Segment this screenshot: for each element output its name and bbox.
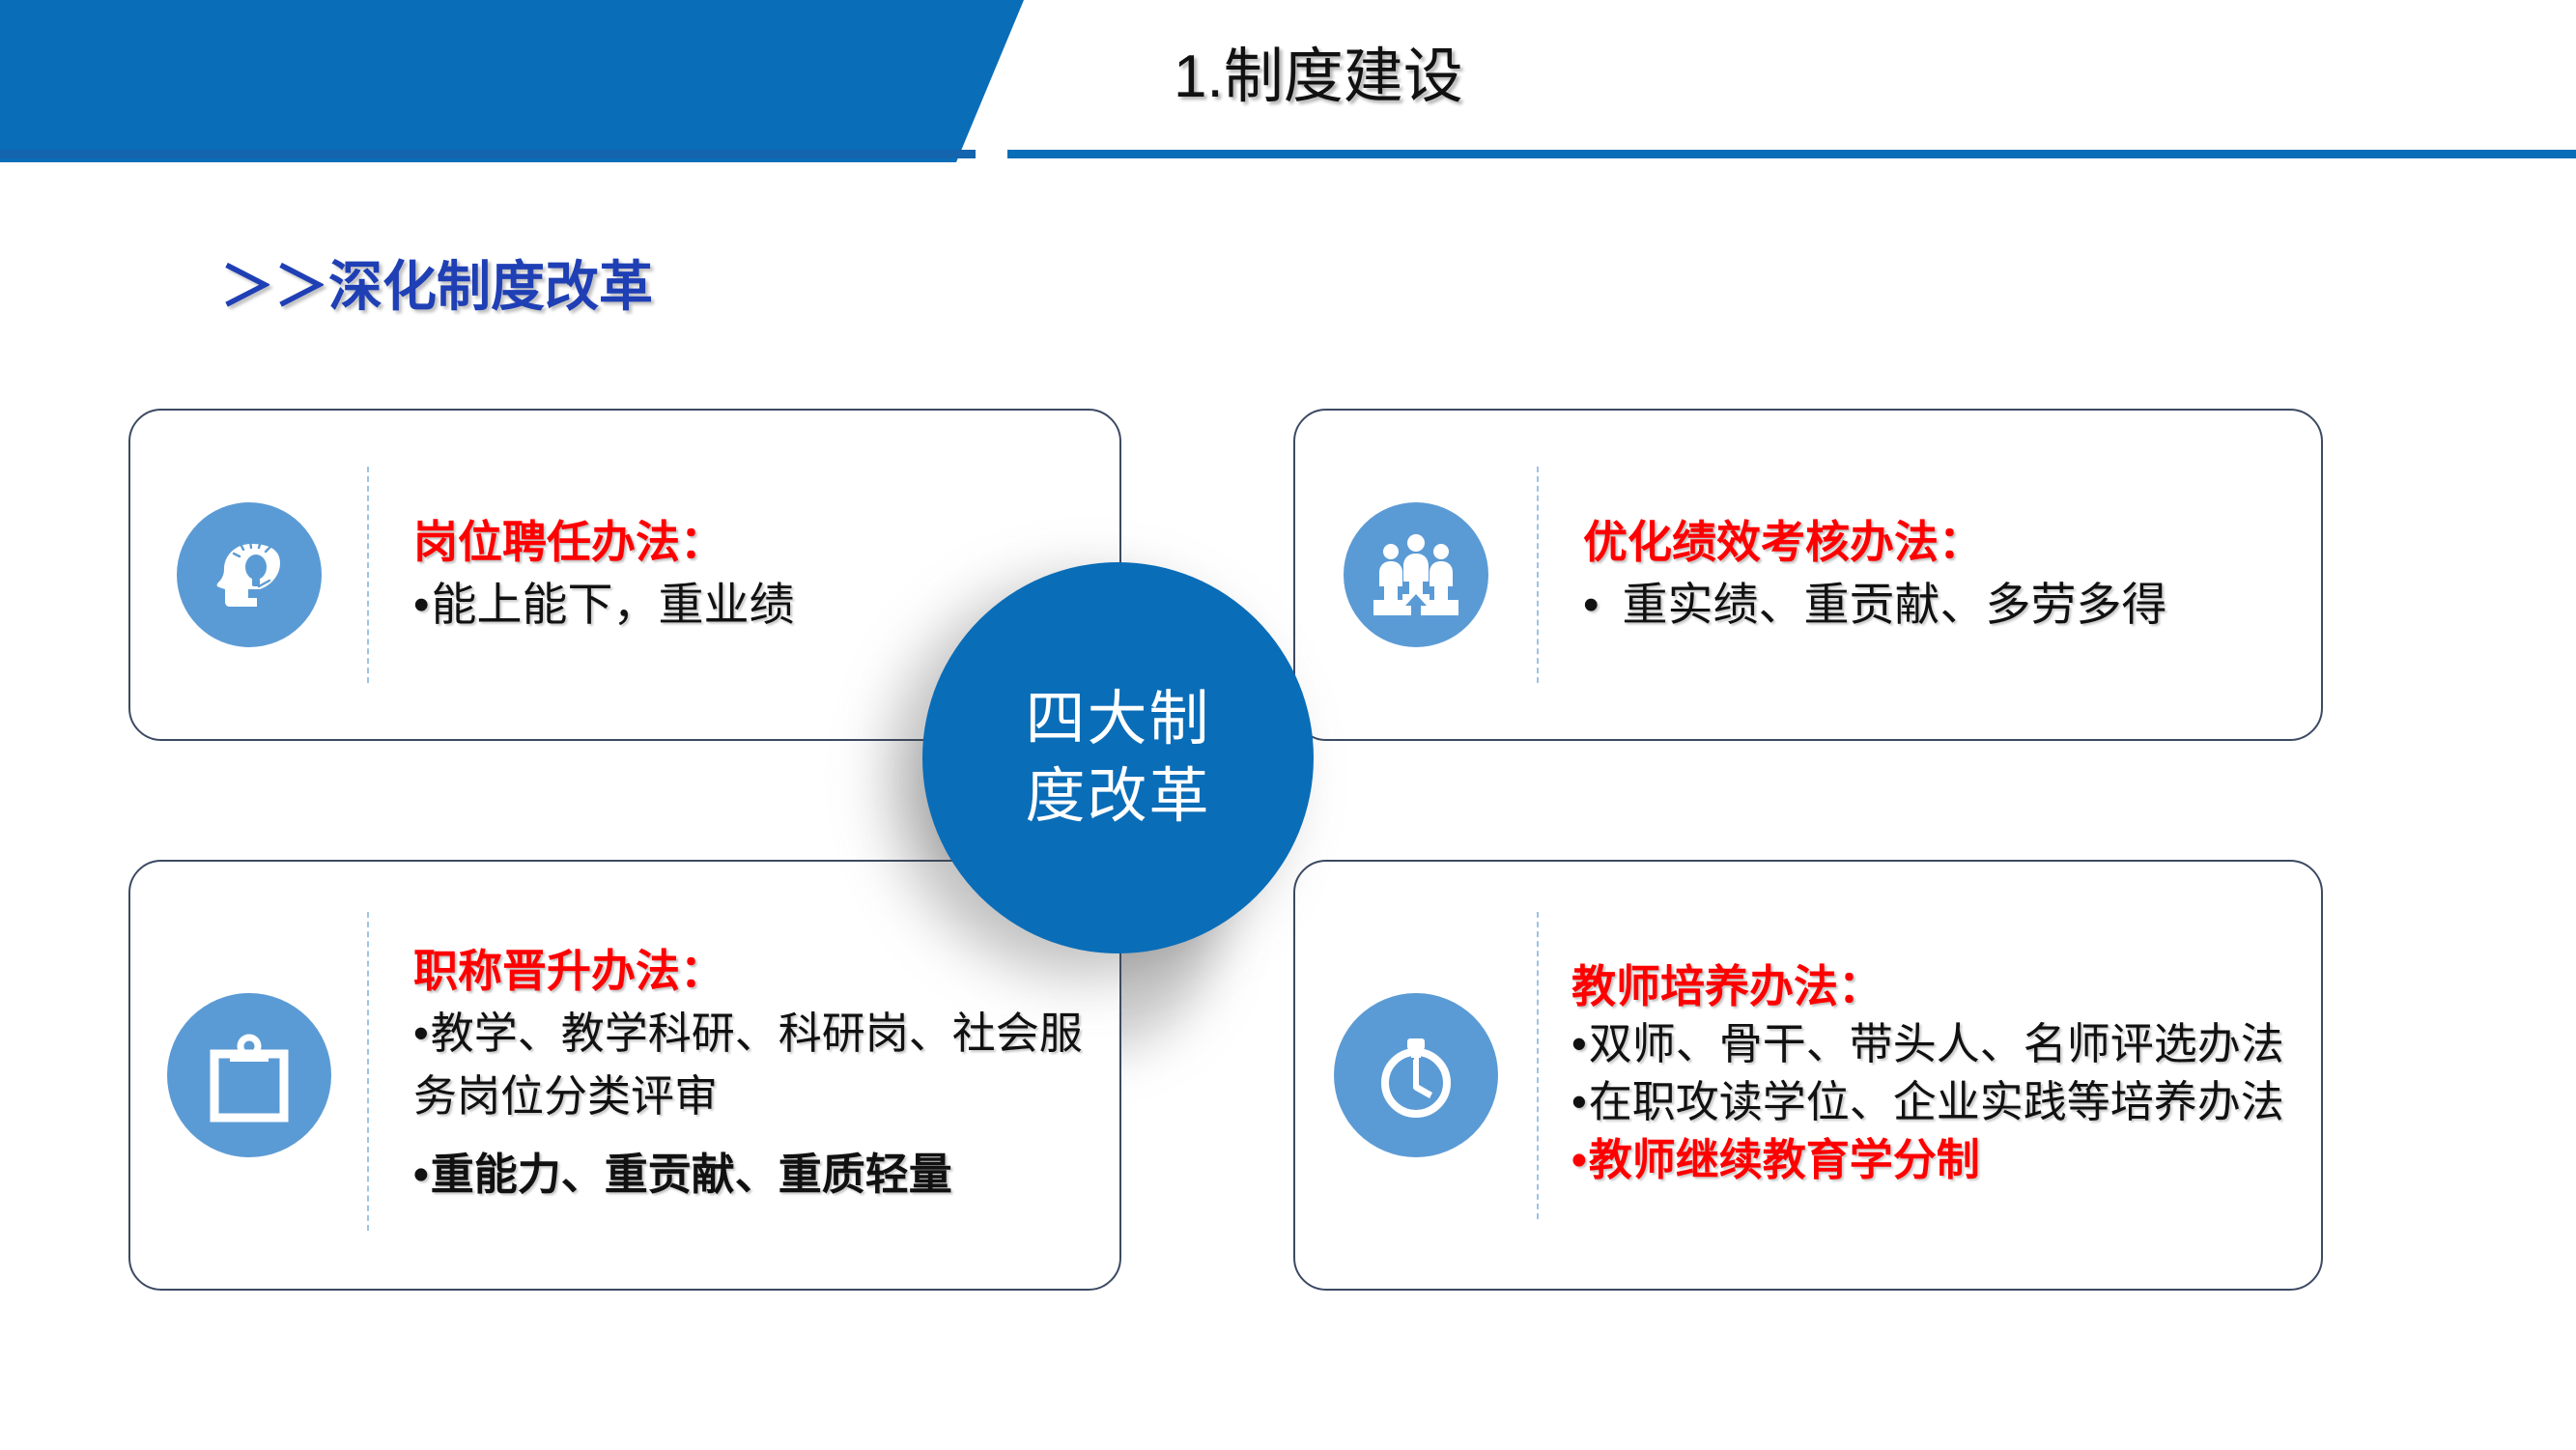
card-text-container: 职称晋升办法： 教学、教学科研、科研岗、社会服务岗位分类评审 重能力、重贡献、重… bbox=[369, 945, 1119, 1207]
stopwatch-icon bbox=[1334, 993, 1498, 1157]
card-icon-container bbox=[130, 502, 367, 647]
center-circle: 四大制 度改革 bbox=[922, 562, 1314, 953]
card-icon-container bbox=[130, 993, 367, 1157]
card-performance-review[interactable]: 优化绩效考核办法： 重实绩、重贡献、多劳多得 bbox=[1293, 409, 2323, 741]
card-heading: 优化绩效考核办法： bbox=[1583, 516, 2306, 568]
card-heading: 岗位聘任办法： bbox=[413, 516, 1104, 568]
card-line: 重能力、重贡献、重质轻量 bbox=[413, 1144, 1104, 1207]
header-underline-left bbox=[0, 150, 976, 158]
header-underline-right bbox=[1007, 150, 2576, 158]
card-line: 在职攻读学位、企业实践等培养办法 bbox=[1571, 1073, 2306, 1131]
card-icon-container bbox=[1295, 993, 1537, 1157]
card-heading: 教师培养办法： bbox=[1571, 960, 2306, 1012]
header-blue-band bbox=[0, 0, 1024, 162]
card-line: 重实绩、重贡献、多劳多得 bbox=[1583, 575, 2306, 634]
section-title: 1.制度建设 bbox=[1174, 27, 1463, 114]
center-circle-label: 四大制 度改革 bbox=[1025, 681, 1210, 835]
card-line: 教师继续教育学分制 bbox=[1571, 1131, 2306, 1189]
card-text-container: 优化绩效考核办法： 重实绩、重贡献、多劳多得 bbox=[1539, 516, 2321, 633]
card-teacher-development[interactable]: 教师培养办法： 双师、骨干、带头人、名师评选办法 在职攻读学位、企业实践等培养办… bbox=[1293, 860, 2323, 1291]
head-lightbulb-icon bbox=[177, 502, 322, 647]
card-text-container: 教师培养办法： 双师、骨干、带头人、名师评选办法 在职攻读学位、企业实践等培养办… bbox=[1539, 960, 2321, 1189]
clipboard-icon bbox=[167, 993, 331, 1157]
podium-people-icon bbox=[1344, 502, 1488, 647]
subtitle: ＞＞深化制度改革 bbox=[220, 243, 653, 322]
card-icon-container bbox=[1295, 502, 1537, 647]
card-line: 教学、教学科研、科研岗、社会服务岗位分类评审 bbox=[413, 1003, 1104, 1128]
card-line: 双师、骨干、带头人、名师评选办法 bbox=[1571, 1015, 2306, 1073]
